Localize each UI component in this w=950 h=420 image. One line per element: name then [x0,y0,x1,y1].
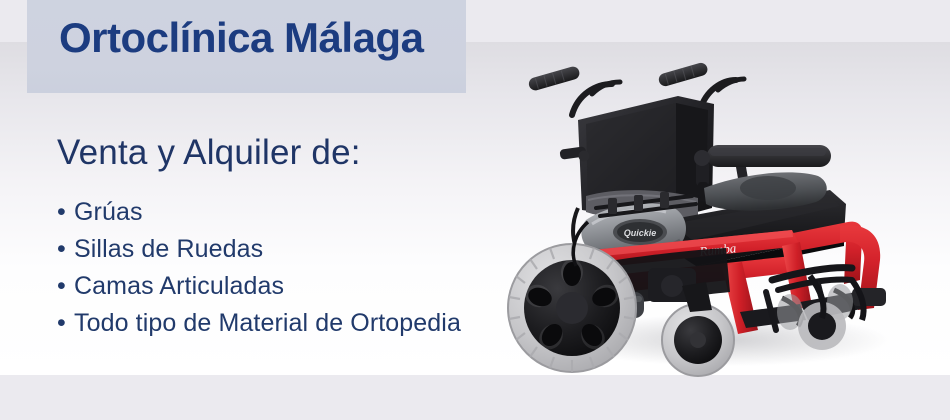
list-item-label: Grúas [74,198,143,226]
list-item-label: Todo tipo de Material de Ortopedia [74,309,461,337]
svg-text:Quickie: Quickie [624,228,657,238]
bullet-icon: • [57,231,74,268]
subtitle: Venta y Alquiler de: [57,133,361,173]
bullet-icon: • [57,305,74,342]
backrest-lever [559,146,589,161]
bullet-icon: • [57,194,74,231]
wheelchair-photo: Quickie [500,40,950,380]
bullet-icon: • [57,268,74,305]
drive-wheel [508,244,636,372]
page-title: Ortoclínica Málaga [59,15,479,61]
push-handle-left [572,82,620,115]
text-column: Venta y Alquiler de: •Grúas •Sillas de R… [0,93,520,375]
background-footer-strip [0,375,950,420]
list-item: •Camas Articuladas [57,268,461,305]
list-item: •Todo tipo de Material de Ortopedia [57,305,461,342]
promo-banner: Ortoclínica Málaga Venta y Alquiler de: … [0,0,950,420]
list-item-label: Sillas de Ruedas [74,235,263,263]
service-list: •Grúas •Sillas de Ruedas •Camas Articula… [57,194,461,342]
list-item-label: Camas Articuladas [74,272,284,300]
list-item: •Sillas de Ruedas [57,231,461,268]
brand-badge: Quickie [613,219,667,245]
list-item: •Grúas [57,194,461,231]
